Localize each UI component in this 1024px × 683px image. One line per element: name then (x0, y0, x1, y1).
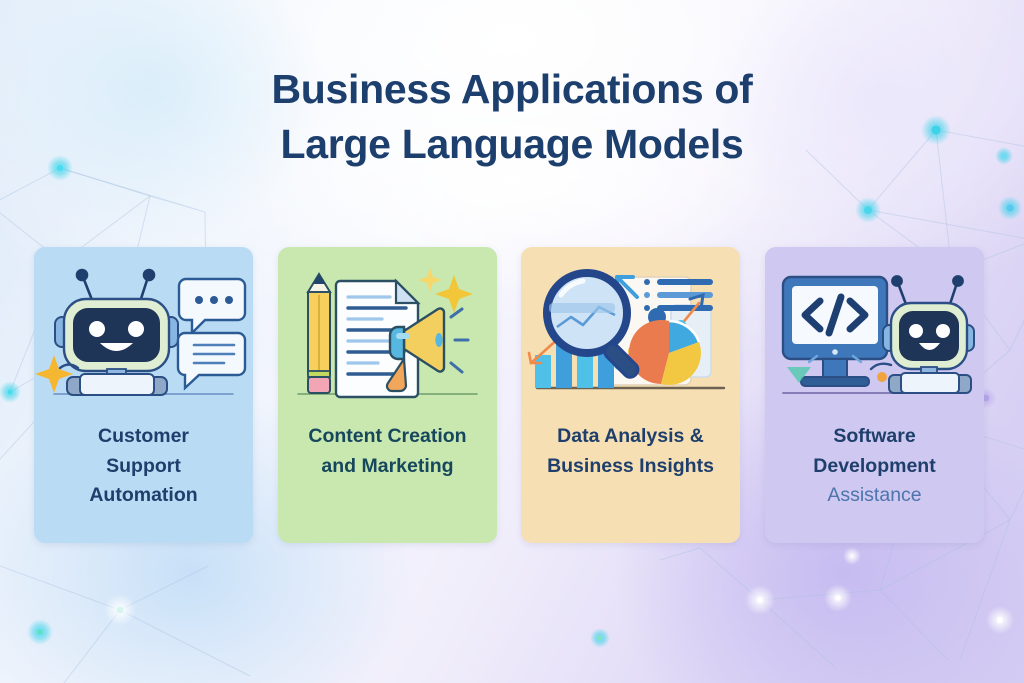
card-label-line: Automation (42, 481, 245, 511)
page-title-line-2: Large Language Models (0, 117, 1024, 172)
robot-chat-icon (34, 255, 253, 415)
card-content-creation-and-marketing[interactable]: Content Creation and Marketing (278, 247, 497, 543)
card-label-line: Business Insights (529, 452, 732, 482)
card-label-line: and Marketing (286, 452, 489, 482)
card-label-line: Development (773, 452, 976, 482)
card-customer-support-automation[interactable]: Customer Support Automation (34, 247, 253, 543)
magnifier-charts-icon (521, 255, 740, 415)
card-label-line: Content Creation (286, 422, 489, 452)
infographic-canvas: Business Applications of Large Language … (0, 0, 1024, 683)
pencil-document-megaphone-icon (278, 255, 497, 415)
card-label-line: Software (773, 422, 976, 452)
card-label-content-creation-and-marketing: Content Creation and Marketing (286, 422, 489, 481)
card-label-line: Assistance (773, 481, 976, 511)
card-label-data-analysis-and-business-insights: Data Analysis & Business Insights (529, 422, 732, 481)
card-software-development-assistance[interactable]: Software Development Assistance (765, 247, 984, 543)
monitor-code-robot-icon (765, 255, 984, 415)
card-label-line: Support (42, 452, 245, 482)
application-card-list: Customer Support Automation (34, 247, 985, 543)
card-label-line: Data Analysis & (529, 422, 732, 452)
card-label-line: Customer (42, 422, 245, 452)
card-label-customer-support-automation: Customer Support Automation (42, 422, 245, 511)
page-title: Business Applications of Large Language … (0, 62, 1024, 171)
page-title-line-1: Business Applications of (0, 62, 1024, 117)
card-data-analysis-and-business-insights[interactable]: Data Analysis & Business Insights (521, 247, 740, 543)
card-label-software-development-assistance: Software Development Assistance (773, 422, 976, 511)
